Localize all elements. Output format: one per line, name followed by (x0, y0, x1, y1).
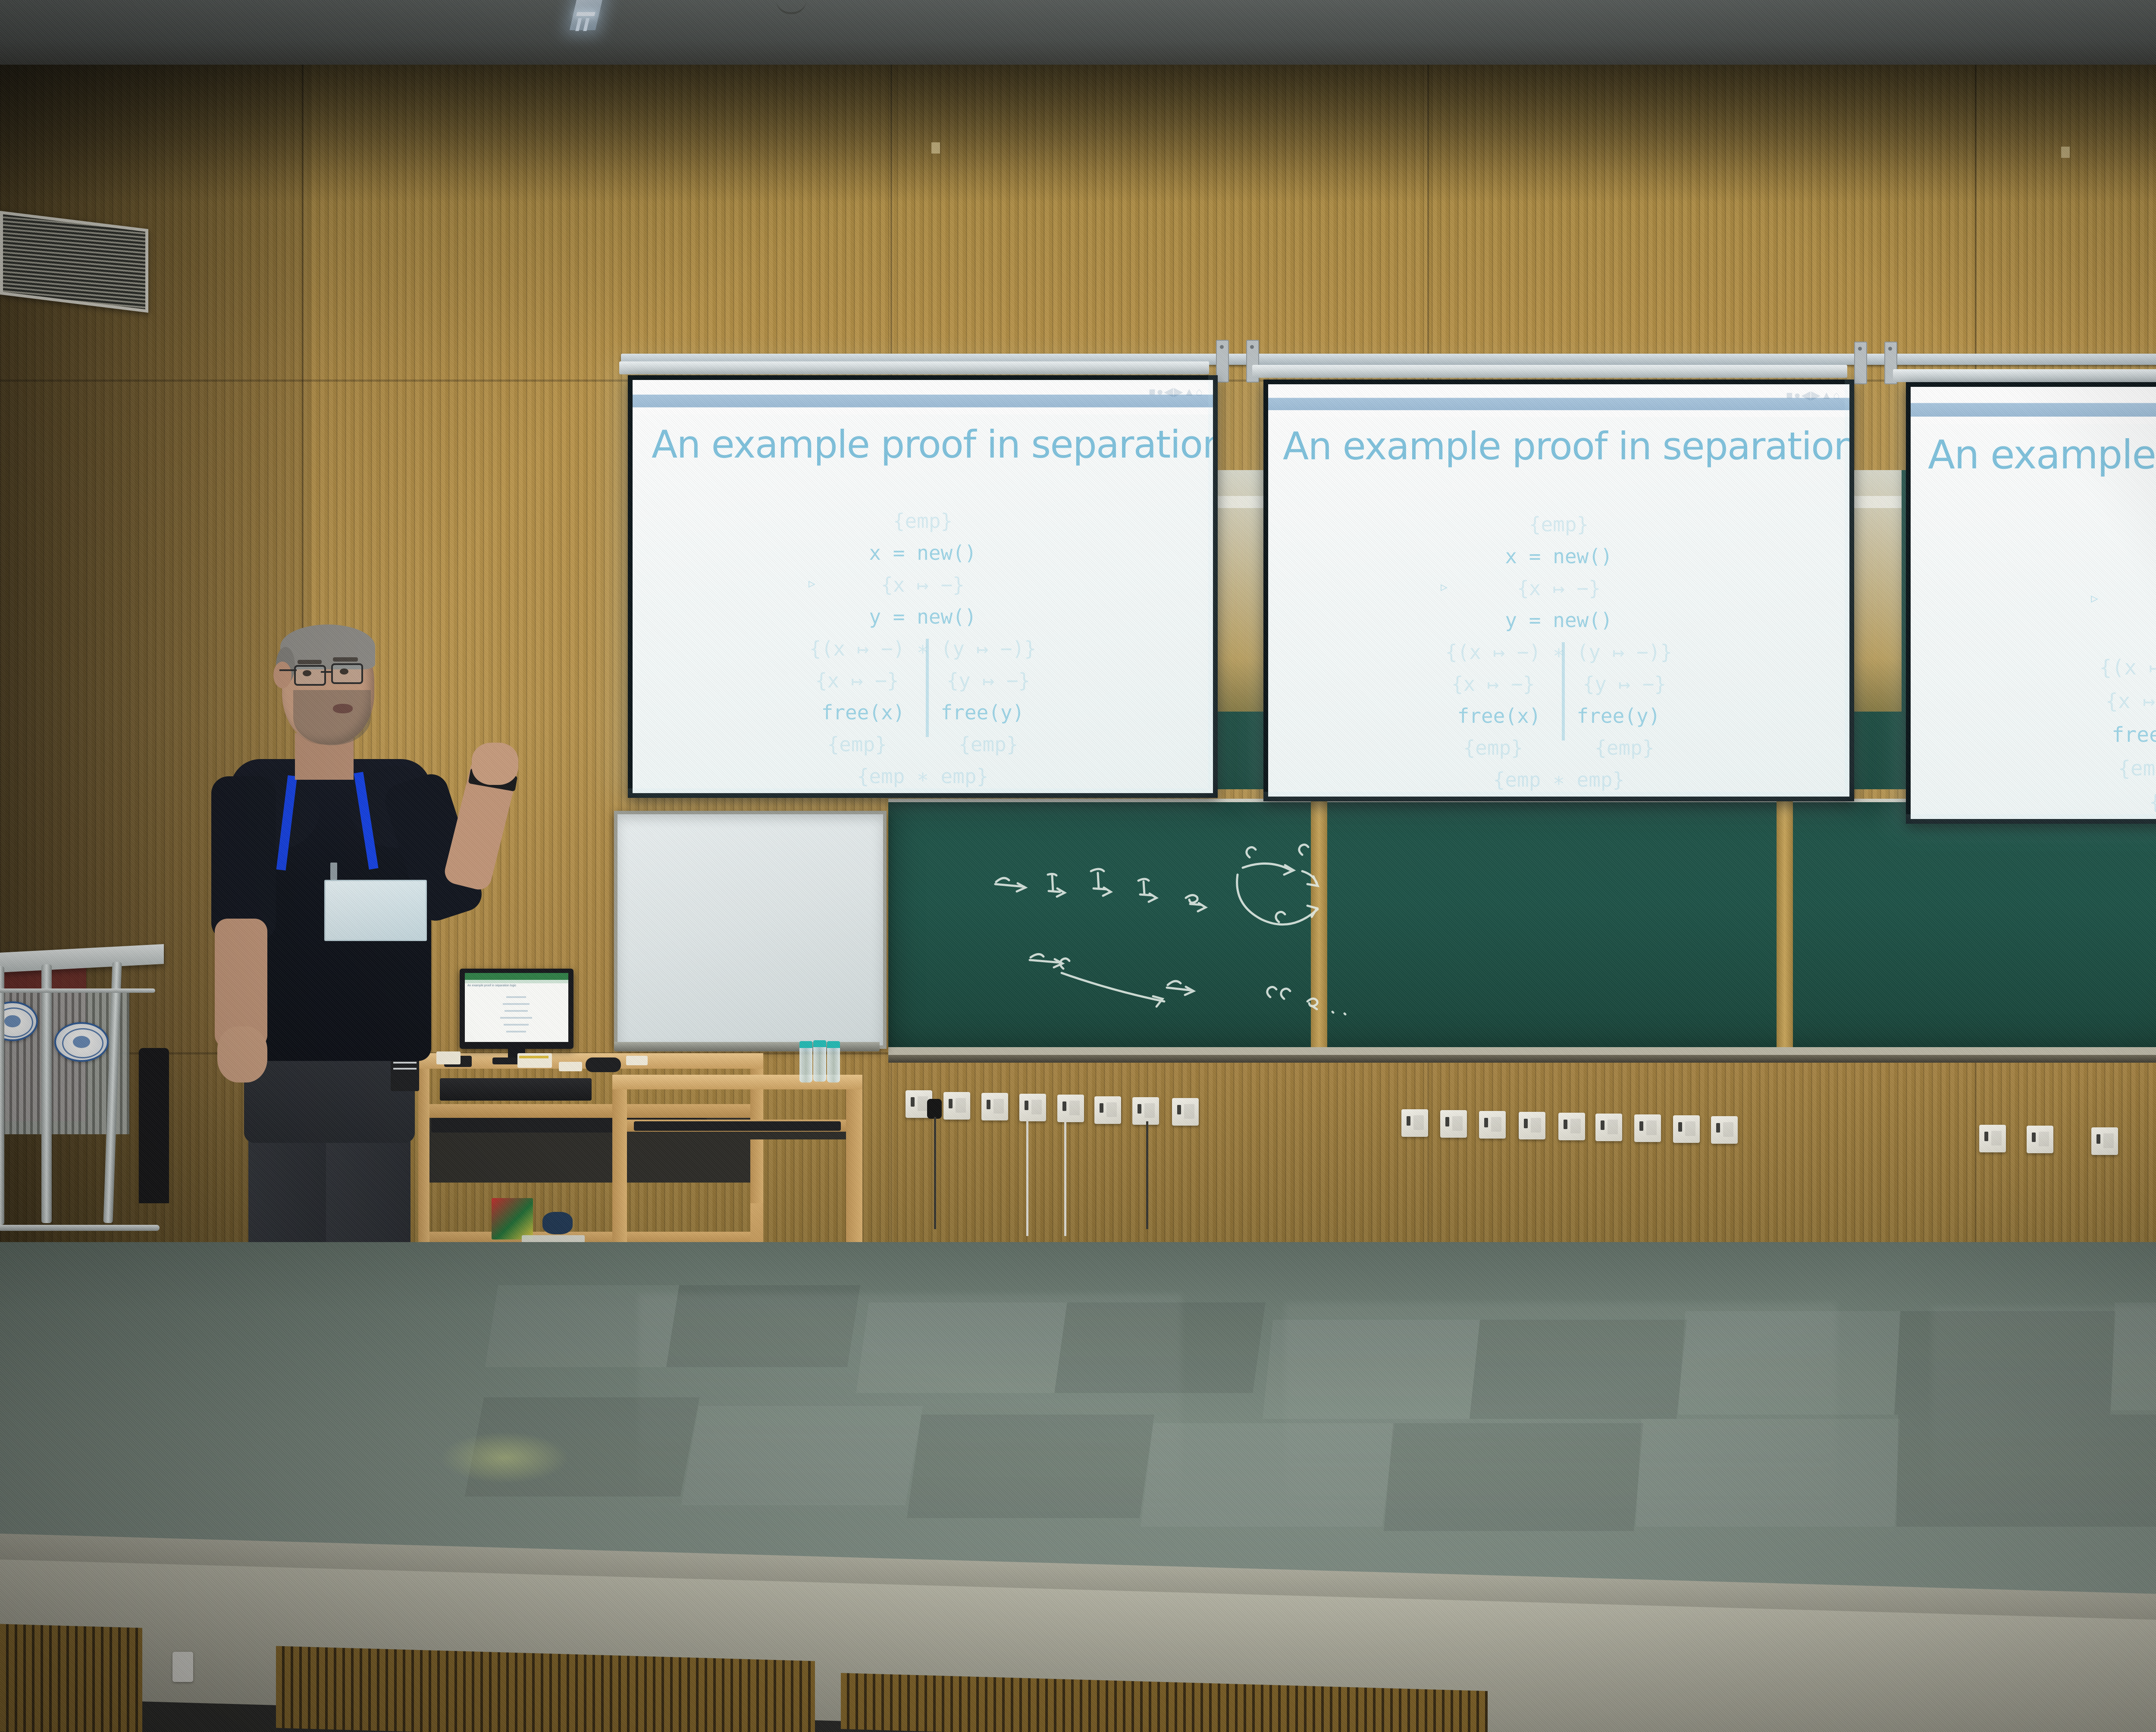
power-outlet[interactable] (1440, 1110, 1467, 1138)
projection-screen-center: ■ ● ◀ ▶ ▲ ⌂ An example proof in separati… (1263, 380, 1854, 801)
cart-right-gap (627, 1132, 846, 1139)
projection-screen-left: ■ ● ◀ ▶ ▲ ⌂ An example proof in separati… (628, 375, 1218, 798)
power-cable (1026, 1120, 1046, 1236)
water-bottle[interactable] (799, 1045, 812, 1082)
proof-line: {emp ∗ emp} (1268, 764, 1849, 796)
presenter-ear (273, 662, 291, 688)
desk-remote[interactable] (626, 1056, 648, 1065)
slide-header-band (1268, 386, 1849, 417)
nav-up-icon[interactable]: ▲ (1821, 389, 1832, 402)
proof-line: {emp} (1268, 508, 1849, 540)
proof-line: x = new() (1911, 550, 2156, 584)
chalkboard-divider (1777, 800, 1793, 1054)
slide-title: An example proof in separation logic (1283, 424, 1849, 468)
floor-reflection (638, 1294, 1181, 1535)
proof-line: {x ↦ −} {y ↦ −} (1268, 668, 1849, 700)
pouch-stripe (393, 1068, 417, 1070)
nav-right-icon[interactable]: ▶ (1811, 389, 1820, 402)
power-outlet[interactable] (1595, 1114, 1622, 1141)
presenter-mouth (333, 704, 353, 713)
wall-plate (2061, 147, 2070, 158)
proof-line: {emp} (633, 792, 1213, 793)
monitor-slide-title: An example proof in separation logic (467, 984, 516, 987)
presenter-eye-left (303, 670, 311, 676)
power-plug (927, 1099, 942, 1119)
presenter-brow-left (298, 660, 322, 664)
slide-center: ■ ● ◀ ▶ ▲ ⌂ An example proof in separati… (1268, 384, 1849, 797)
water-bottle[interactable] (827, 1045, 840, 1082)
slide-nav-icons[interactable]: ■ ● ◀ ▶ ▲ ⌂ (1786, 389, 1835, 402)
proof-separator-bar (926, 639, 929, 737)
chalkboard-handwriting (888, 802, 1406, 1018)
nav-circle-icon[interactable]: ● (1156, 385, 1163, 398)
power-outlet[interactable] (1519, 1112, 1545, 1139)
proof-line: {emp ∗ emp} (1911, 785, 2156, 819)
projection-screen-right: ■ ● ◀ ▶ ▲ ⌂ An example proof in separati… (1906, 382, 2156, 824)
proof-line: {x ↦ −} {y ↦ −} (633, 665, 1213, 697)
glasses-temple-icon (279, 669, 297, 671)
nav-left-icon[interactable]: ◀ (1164, 385, 1173, 398)
slide-right: ■ ● ◀ ▶ ▲ ⌂ An example proof in separati… (1911, 387, 2156, 819)
screen-case-left (619, 361, 1209, 374)
proof-line: {x ↦ −} (1268, 572, 1849, 604)
rail-bracket (1216, 340, 1229, 383)
proof-line: y = new() (633, 601, 1213, 633)
power-outlet[interactable] (2027, 1126, 2053, 1153)
pouch-stripe (393, 1062, 417, 1064)
nav-home-icon[interactable]: ⌂ (1196, 385, 1203, 398)
nav-square-icon[interactable]: ■ (1786, 389, 1793, 402)
proof-block: {emp} x = new() {x ↦ −} y = new() {(x ↦ … (1268, 508, 1849, 797)
power-cable (1064, 1120, 1079, 1236)
proof-line: {x ↦ −} (633, 569, 1213, 601)
presenter-hand-left (217, 1026, 267, 1082)
nav-right-icon[interactable]: ▶ (1174, 385, 1183, 398)
power-outlet[interactable] (1558, 1113, 1585, 1140)
cart-left-keyboard-shelf (429, 1104, 750, 1118)
floor-light-spot (440, 1432, 569, 1484)
chair[interactable] (139, 1048, 169, 1203)
power-outlet[interactable] (1172, 1098, 1199, 1126)
power-outlet[interactable] (1057, 1095, 1084, 1122)
slide-left: ■ ● ◀ ▶ ▲ ⌂ An example proof in separati… (633, 380, 1213, 793)
proof-block: {emp} x = new() {x ↦ −} y = new() {(x ↦ … (633, 505, 1213, 793)
lectern-leg (0, 966, 4, 1225)
ceiling (0, 0, 2156, 73)
bottle-cap (799, 1041, 812, 1048)
proof-line: {emp} {emp} (1911, 752, 2156, 785)
proof-line: y = new() (1268, 604, 1849, 636)
power-outlet[interactable] (981, 1093, 1008, 1120)
proof-line: {emp} (1268, 796, 1849, 797)
slide-title: An example proof in separation logic (652, 422, 1213, 467)
cart-left-side (418, 1069, 429, 1267)
presenter-brow-right (333, 657, 358, 662)
nav-home-icon[interactable]: ⌂ (1833, 389, 1840, 402)
badge-clip-icon (330, 863, 337, 880)
slide-title: An example proof in separation logic (1928, 432, 2156, 478)
monitor-screen: An example proof in separation logic (465, 973, 568, 1042)
power-outlet[interactable] (1132, 1097, 1159, 1125)
slide-header-band (633, 383, 1213, 414)
chalkboard-ledge (888, 1055, 2156, 1063)
proof-line: {emp} {emp} (1268, 732, 1849, 764)
proof-line: {x ↦ −} (1911, 584, 2156, 617)
proof-line: {emp} (1911, 516, 2156, 550)
power-outlet[interactable] (1094, 1096, 1121, 1124)
proof-line: free(x) free(y) (1268, 700, 1849, 732)
proof-line: {emp} {emp} (633, 728, 1213, 760)
power-outlet[interactable] (1479, 1111, 1506, 1139)
rail-bracket (1854, 342, 1867, 384)
power-outlet[interactable] (1711, 1116, 1738, 1144)
lectern-leg (41, 964, 52, 1223)
power-outlet[interactable] (2091, 1127, 2118, 1155)
monitor-toolbar (465, 980, 568, 983)
keyboard[interactable] (440, 1078, 592, 1101)
glasses-lens-left (294, 665, 326, 686)
desk-device-label (519, 1056, 548, 1058)
proof-line: free(x) free(y) (633, 697, 1213, 728)
monitor-titlebar (465, 973, 568, 980)
name-badge (324, 880, 427, 941)
presenter-sleeve-left (211, 776, 276, 940)
bottle-cap (813, 1040, 826, 1047)
proof-block: {emp} x = new() {x ↦ −} y = new() {(x ↦ … (1911, 516, 2156, 819)
proof-line: {(x ↦ −) ∗ (y ↦ −)} (633, 633, 1213, 665)
bottle-cap (827, 1041, 840, 1048)
whiteboard-left (614, 811, 887, 1049)
power-outlet[interactable] (1019, 1094, 1046, 1121)
power-outlet[interactable] (943, 1092, 970, 1120)
proof-line: x = new() (633, 537, 1213, 569)
nav-circle-icon[interactable]: ● (1794, 389, 1801, 402)
power-outlet[interactable] (1673, 1115, 1700, 1143)
power-outlet[interactable] (1979, 1125, 2006, 1152)
water-bottle[interactable] (813, 1045, 826, 1082)
screen-case-right (1893, 369, 2156, 382)
presenter-beard (293, 690, 371, 745)
glasses-lens-right (331, 663, 363, 684)
proof-line: {(x ↦ −) ∗ (y ↦ −)} (1268, 636, 1849, 668)
proof-line: {x ↦ −} {y ↦ −} (1911, 684, 2156, 718)
proof-line: {emp ∗ emp} (633, 760, 1213, 792)
shelf-box-red (492, 1198, 533, 1239)
power-outlet[interactable] (1401, 1109, 1428, 1137)
proof-line: x = new() (1268, 540, 1849, 572)
presenter-eye-right (340, 668, 348, 675)
desk-unit (436, 1051, 461, 1064)
nav-left-icon[interactable]: ◀ (1802, 389, 1810, 402)
stage-wood-slats (276, 1646, 815, 1732)
presenter-hand-right (472, 743, 518, 785)
lectern-foot-rail (0, 1225, 160, 1231)
screen-case-center (1252, 365, 1847, 378)
floor-reflection (1932, 1307, 2156, 1540)
proof-line: y = new() (1911, 617, 2156, 651)
stage-power-socket[interactable] (172, 1652, 193, 1682)
power-cable (1146, 1121, 1170, 1229)
power-cable (934, 1117, 962, 1229)
wall-plate (931, 142, 940, 154)
proof-separator-bar (1562, 642, 1565, 740)
proof-line: free(x) free(y) (1911, 718, 2156, 752)
floor-reflection (1285, 1302, 1837, 1535)
slide-header-band (1911, 390, 2156, 424)
computer-mouse[interactable] (586, 1057, 621, 1072)
lectern-seal-icon (54, 1022, 109, 1062)
desk-small-item (559, 1062, 582, 1071)
proof-line: {(x ↦ −) ∗ (y ↦ −)} (1911, 651, 2156, 684)
cart-right-tray-item (634, 1121, 841, 1131)
nav-square-icon[interactable]: ■ (1149, 385, 1156, 398)
slide-nav-icons[interactable]: ■ ● ◀ ▶ ▲ ⌂ (1149, 385, 1197, 398)
proof-line: {emp} (633, 505, 1213, 537)
glasses-bridge-icon (321, 671, 333, 673)
shelf-box-blue (542, 1212, 573, 1234)
power-outlet[interactable] (1634, 1114, 1661, 1142)
lecture-hall-scene: ■ ● ◀ ▶ ▲ ⌂ An example proof in separati… (0, 0, 2156, 1732)
nav-up-icon[interactable]: ▲ (1184, 385, 1195, 398)
stage-wood-slats (0, 1624, 142, 1732)
lectern-cross-rail (0, 988, 155, 993)
